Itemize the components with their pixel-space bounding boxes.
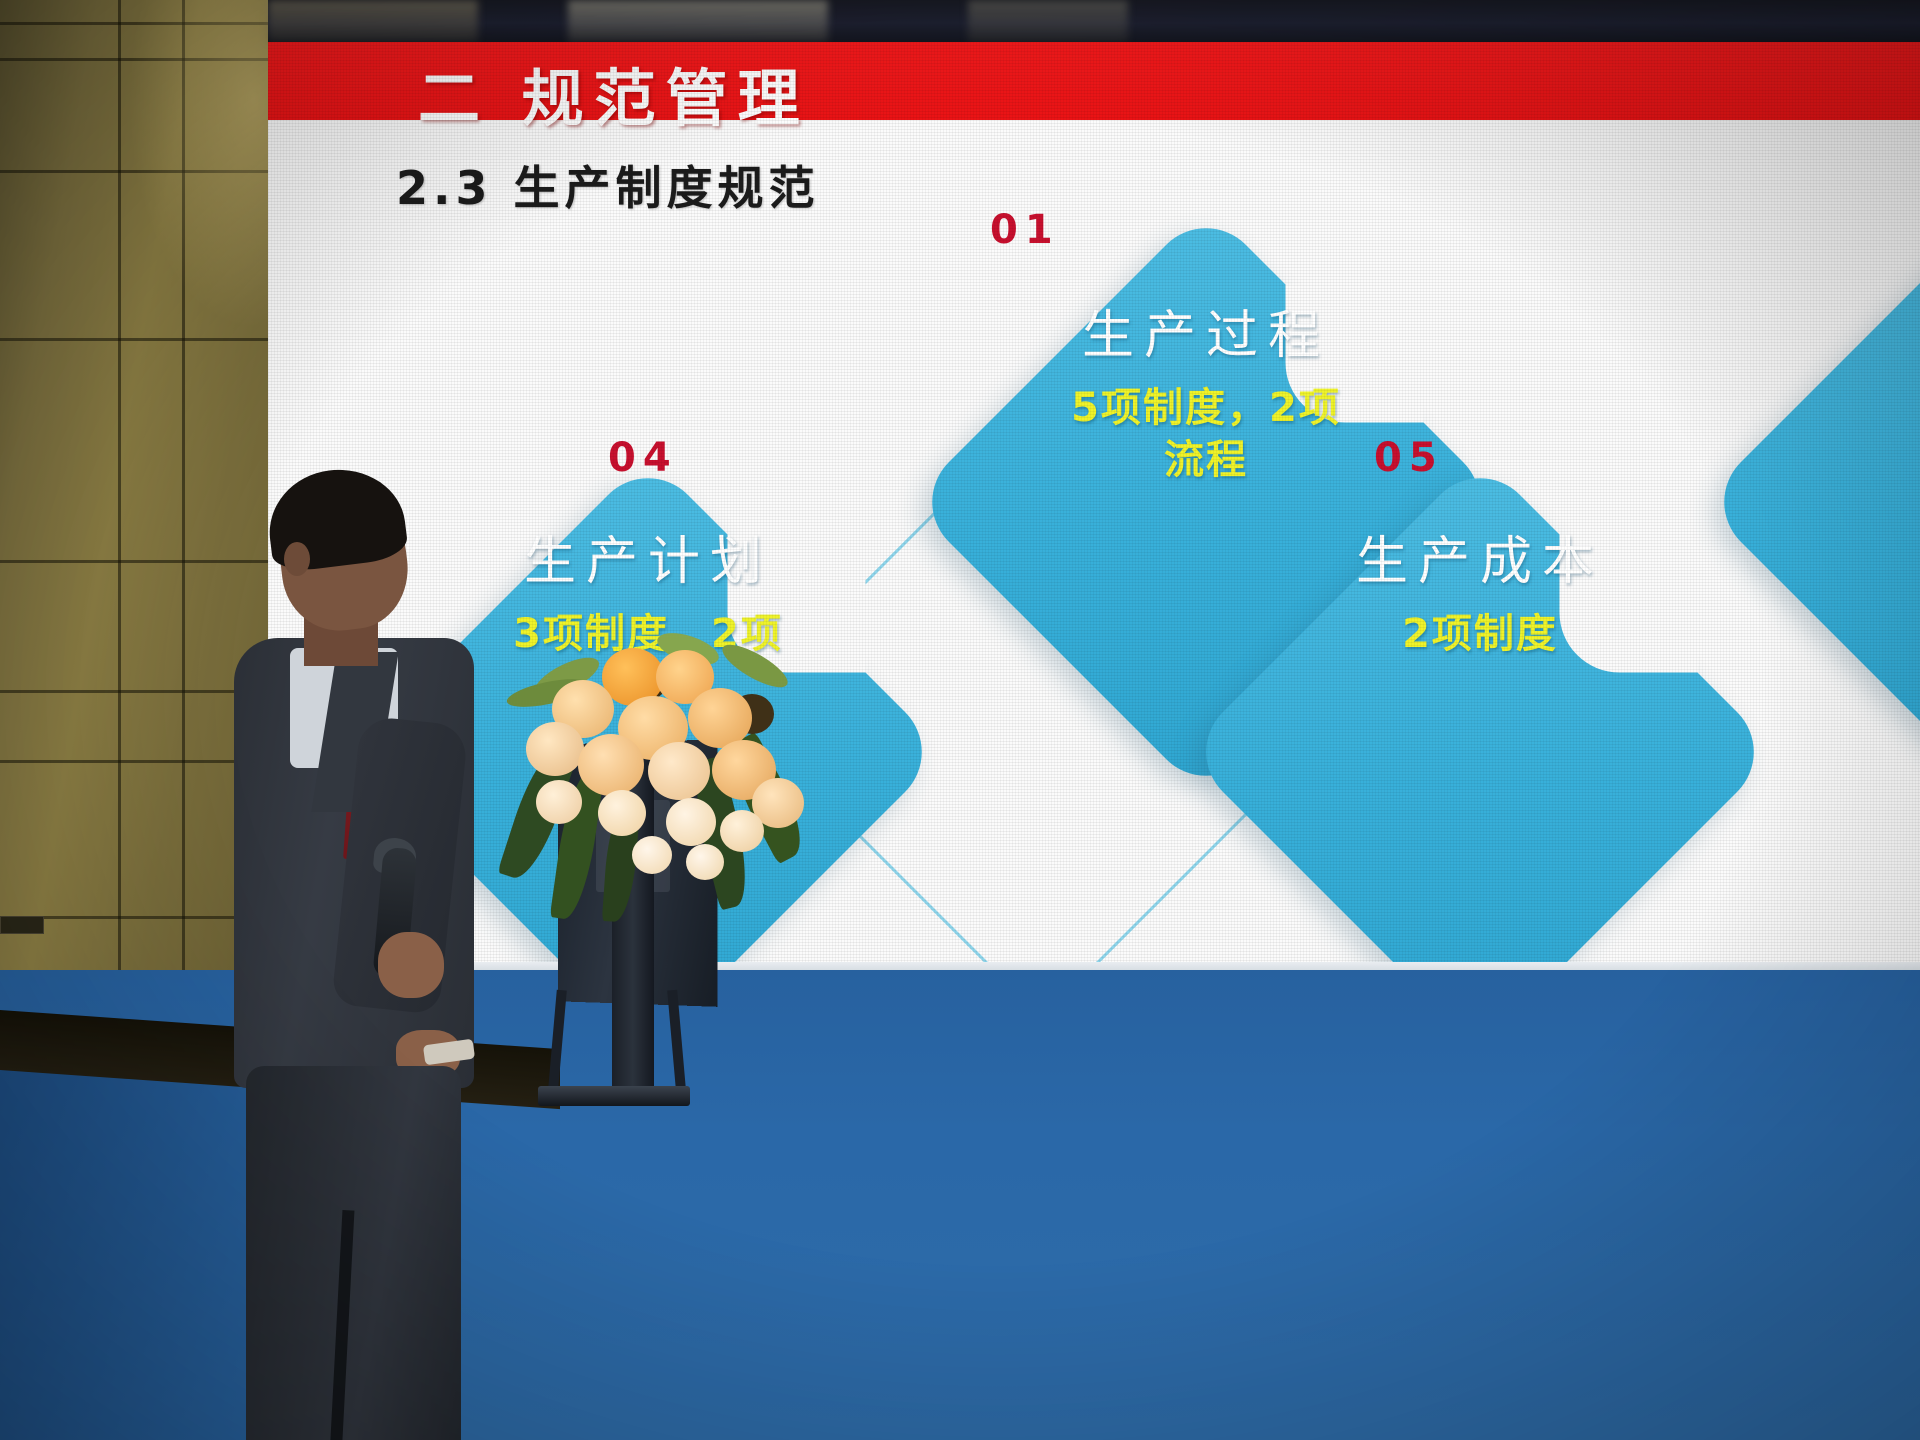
presenter xyxy=(228,470,548,1170)
backdrop-above-screen xyxy=(268,0,1920,42)
diamond-01-title: 生产过程 xyxy=(786,304,1626,369)
diamond-01-text: 生产过程 5项制度，2项 流程 xyxy=(786,304,1626,485)
diamond-05-title: 生产成本 xyxy=(1260,530,1700,595)
diamond-05-detail: 2项制度 xyxy=(1260,609,1700,659)
diamond-05-number: 05 xyxy=(1374,435,1444,481)
diamond-05-text: 生产成本 2项制度 xyxy=(1260,530,1700,659)
presenter-hand-holding-mic xyxy=(378,932,444,998)
diamond-04-number: 04 xyxy=(608,435,678,481)
presenter-trousers xyxy=(246,1066,461,1440)
stage-presentation-photo: 二 规范管理 2.3 生产制度规范 04 生产计划 3项制度，2项 01 生产过… xyxy=(0,0,1920,1440)
diamond-01-number: 01 xyxy=(990,207,1060,253)
diamond-01-detail-line2: 流程 xyxy=(786,435,1626,485)
wall-plaque xyxy=(0,916,44,934)
presenter-ear xyxy=(284,542,310,576)
slide-subtitle: 2.3 生产制度规范 xyxy=(396,152,820,218)
flower-arrangement xyxy=(506,630,806,900)
diamond-01-detail-line1: 5项制度，2项 xyxy=(786,383,1626,433)
slide-banner-title: 二 规范管理 xyxy=(418,48,810,138)
lectern-base xyxy=(538,1086,690,1106)
